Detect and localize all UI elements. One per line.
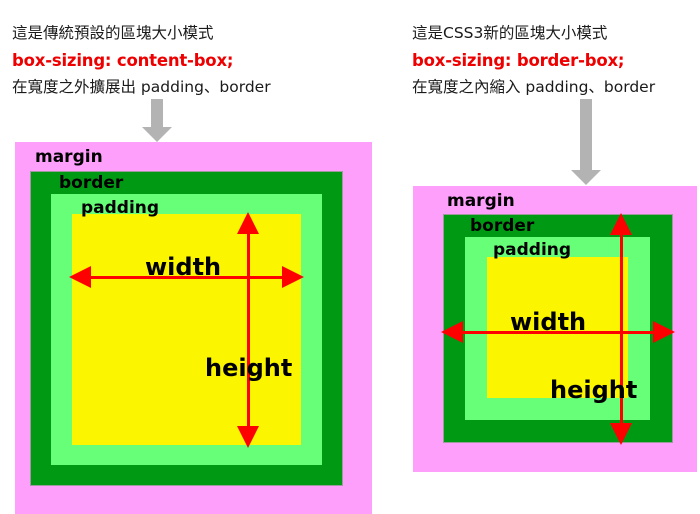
arrow-shaft [151,99,163,128]
arrow-head-right [653,321,675,343]
height-label: height [550,378,637,402]
arrow-head-right [282,266,304,288]
arrow-head [571,170,601,185]
caption-line-1: 這是CSS3新的區塊大小模式 [412,20,655,47]
down-arrow-icon-left [142,99,172,142]
caption-code-line: box-sizing: border-box; [412,47,655,74]
height-arrow [237,212,259,448]
margin-label: margin [447,193,515,210]
content-box [72,214,301,445]
arrow-head-bottom [610,423,632,445]
arrow-shaft [247,223,250,437]
margin-label: margin [35,149,103,166]
height-label: height [205,356,292,380]
arrow-head [142,127,172,142]
caption-code-line: box-sizing: content-box; [12,47,271,74]
padding-label: padding [81,200,159,217]
caption-line-3: 在寬度之內縮入 padding、border [412,74,655,101]
caption-border-box: 這是CSS3新的區塊大小模式 box-sizing: border-box; 在… [412,20,655,101]
down-arrow-icon-right [571,99,601,185]
box-model-diagram-border-box: margin border padding width height [413,186,697,472]
caption-content-box: 這是傳統預設的區塊大小模式 box-sizing: content-box; 在… [12,20,271,101]
arrow-shaft [580,99,592,171]
width-label: width [510,310,586,334]
caption-line-1: 這是傳統預設的區塊大小模式 [12,20,271,47]
border-label: border [59,175,123,192]
caption-line-3: 在寬度之外擴展出 padding、border [12,74,271,101]
box-model-diagram-content-box: margin border padding width height [15,142,372,514]
height-arrow [610,213,632,445]
border-label: border [470,218,534,235]
arrow-head-bottom [237,426,259,448]
padding-label: padding [493,242,571,259]
width-label: width [145,255,221,279]
